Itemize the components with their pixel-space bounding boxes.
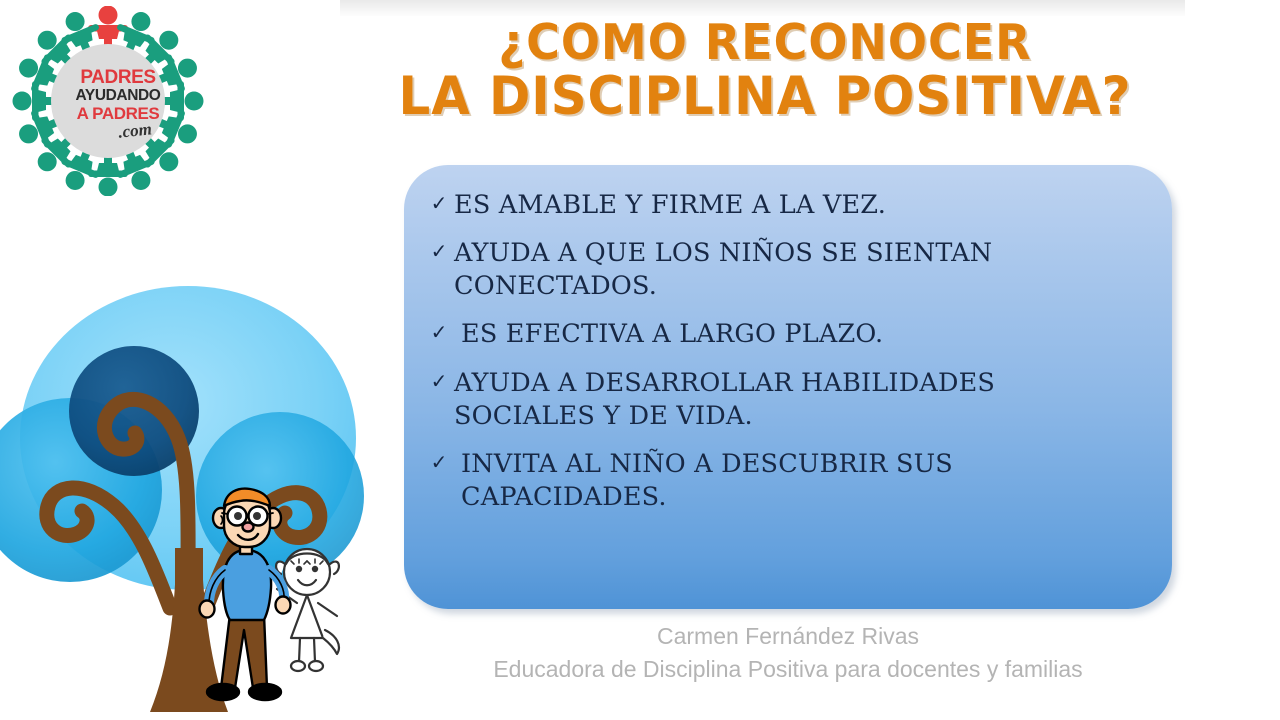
man-hand-left	[200, 601, 215, 618]
author-name: Carmen Fernández Rivas	[404, 622, 1172, 651]
author-role: Educadora de Disciplina Positiva para do…	[404, 655, 1172, 684]
author-caption: Carmen Fernández Rivas Educadora de Disc…	[404, 622, 1172, 685]
list-item-label: AYUDA A DESARROLLAR HABILIDADES SOCIALES…	[454, 367, 1054, 433]
bullet-list: ✓ ES AMABLE Y FIRME A LA VEZ. ✓ AYUDA A …	[404, 165, 1172, 609]
list-item-label: AYUDA A QUE LOS NIÑOS SE SIENTAN CONECTA…	[454, 237, 1054, 303]
list-item-label: INVITA AL NIÑO A DESCUBRIR SUS CAPACIDAD…	[454, 448, 1061, 514]
check-icon: ✓	[424, 318, 454, 346]
man-nose	[243, 523, 254, 532]
list-item: ✓ INVITA AL NIÑO A DESCUBRIR SUS CAPACID…	[424, 448, 1142, 514]
man-pants	[221, 614, 267, 688]
tree-illustration	[0, 278, 384, 720]
man-shoe-right	[249, 684, 281, 700]
list-item-label: ES EFECTIVA A LARGO PLAZO.	[454, 318, 883, 351]
list-item-label: ES AMABLE Y FIRME A LA VEZ.	[454, 189, 886, 222]
check-icon: ✓	[424, 237, 454, 265]
list-item: ✓ ES EFECTIVA A LARGO PLAZO.	[424, 318, 1142, 351]
brand-logo[interactable]: PADRES AYUDANDO A PADRES .com	[10, 6, 206, 196]
check-icon: ✓	[424, 448, 454, 476]
man-shirt	[223, 550, 271, 620]
list-item: ✓ ES AMABLE Y FIRME A LA VEZ.	[424, 189, 1142, 222]
list-item: ✓ AYUDA A DESARROLLAR HABILIDADES SOCIAL…	[424, 367, 1142, 433]
logo-inner-disc	[51, 44, 165, 158]
content-panel: ✓ ES AMABLE Y FIRME A LA VEZ. ✓ AYUDA A …	[404, 165, 1172, 609]
logo-people-ring	[12, 6, 204, 196]
title-line-2: LA DISCIPLINA POSITIVA?	[366, 70, 1165, 124]
title-line-1: ¿COMO RECONOCER	[366, 18, 1165, 68]
slide-canvas: PADRES AYUDANDO A PADRES .com	[0, 0, 1280, 720]
man-shoe-left	[207, 684, 239, 700]
man-hand-right	[276, 597, 291, 614]
check-icon: ✓	[424, 189, 454, 217]
list-item: ✓ AYUDA A QUE LOS NIÑOS SE SIENTAN CONEC…	[424, 237, 1142, 303]
page-title: ¿COMO RECONOCER LA DISCIPLINA POSITIVA?	[340, 18, 1190, 124]
check-icon: ✓	[424, 367, 454, 395]
